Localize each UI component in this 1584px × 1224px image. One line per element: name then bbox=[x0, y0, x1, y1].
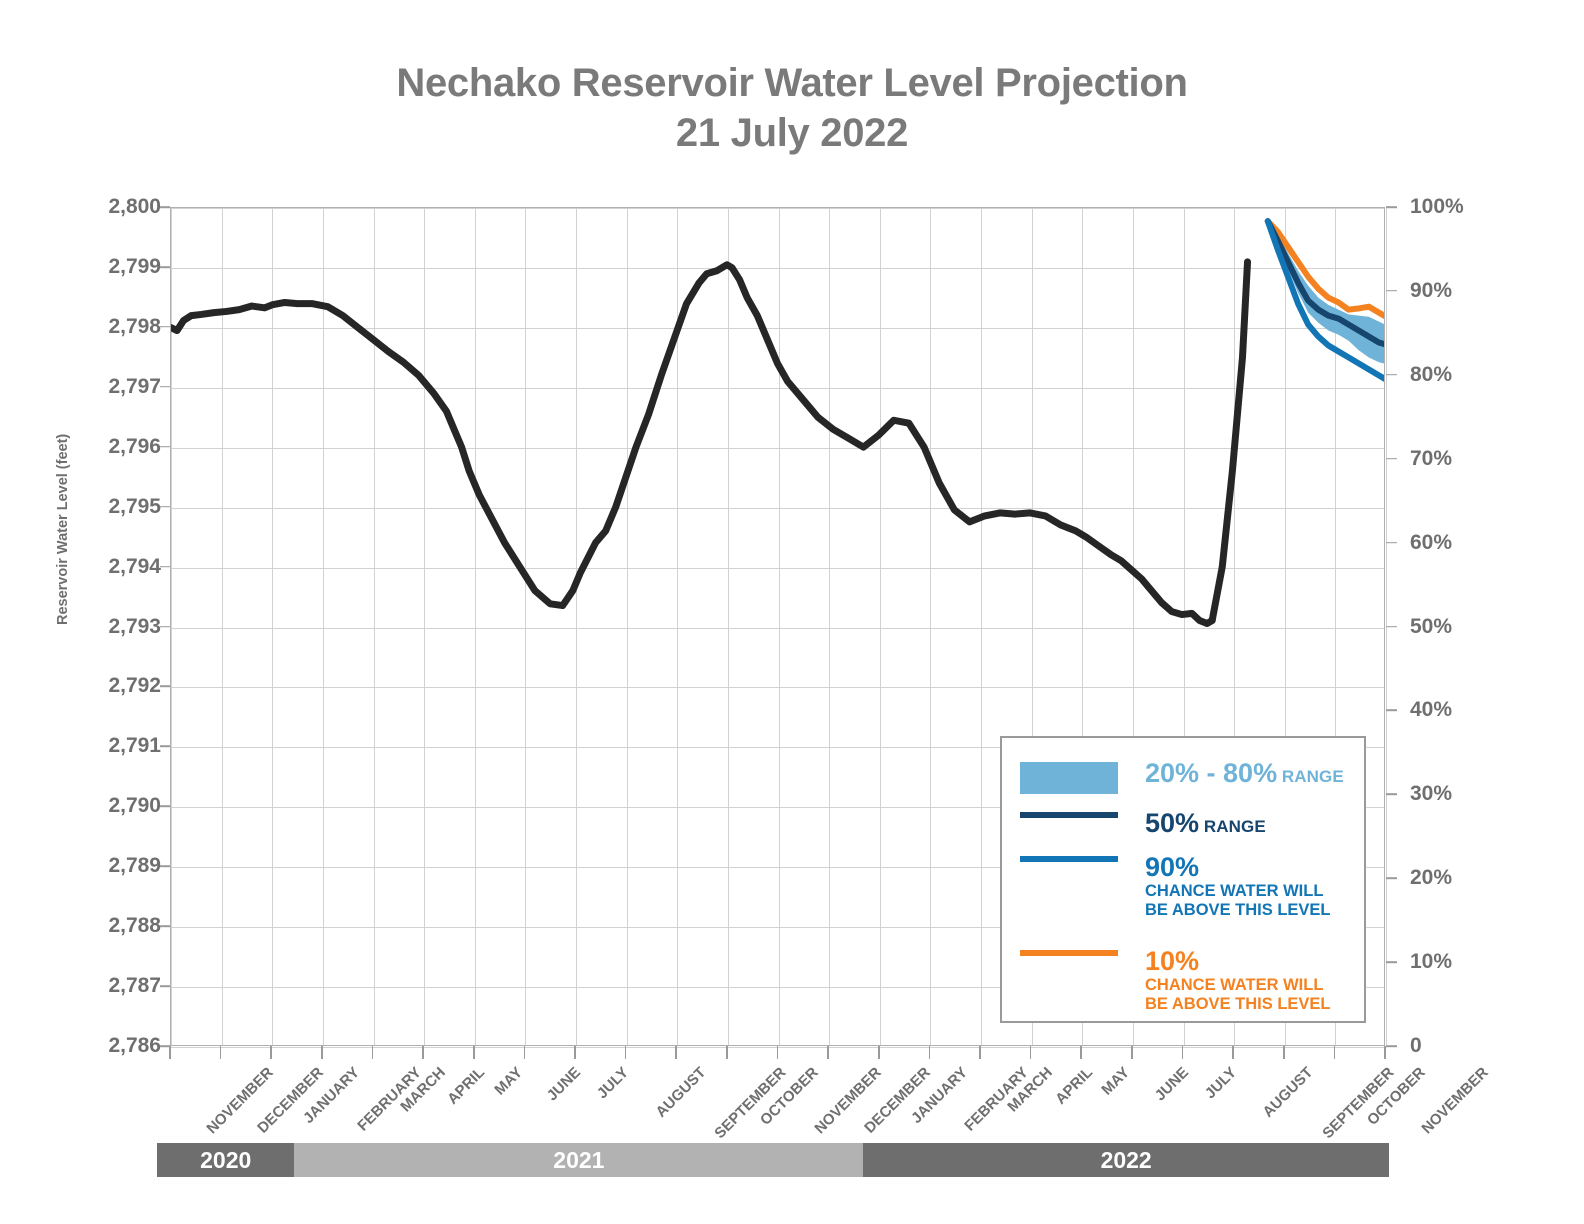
x-axis-tick bbox=[574, 1046, 576, 1059]
x-axis-tick bbox=[1182, 1046, 1184, 1059]
x-axis-tick bbox=[675, 1046, 677, 1059]
legend-label-primary: 50% bbox=[1145, 808, 1199, 838]
x-axis-tick bbox=[1232, 1046, 1234, 1059]
x-axis-tick-label: AUGUST bbox=[652, 1064, 709, 1121]
y-axis-left-tick-label: 2,799 bbox=[41, 255, 161, 279]
x-axis-tick bbox=[1030, 1046, 1032, 1059]
legend-swatch-mark bbox=[1020, 950, 1118, 956]
x-axis-tick bbox=[726, 1046, 728, 1059]
x-axis-tick bbox=[169, 1046, 171, 1059]
x-axis-tick bbox=[929, 1046, 931, 1059]
x-axis-tick bbox=[777, 1046, 779, 1059]
x-axis-tick bbox=[220, 1046, 222, 1059]
y-axis-left-tick bbox=[160, 805, 170, 807]
legend-label-chance-10: 10%CHANCE WATER WILLBE ABOVE THIS LEVEL bbox=[1140, 946, 1331, 1014]
y-axis-left-tick-label: 2,789 bbox=[41, 854, 161, 878]
legend-label-secondary: RANGE bbox=[1199, 817, 1266, 836]
legend-swatch-mark bbox=[1020, 856, 1118, 862]
x-axis-tick-label: NOVEMBER bbox=[1418, 1064, 1491, 1137]
legend-swatch-range-50 bbox=[1020, 808, 1140, 818]
y-axis-left-tick-label: 2,787 bbox=[41, 974, 161, 998]
legend-label-description: BE ABOVE THIS LEVEL bbox=[1145, 995, 1331, 1014]
y-axis-right-tick bbox=[1386, 794, 1397, 796]
x-axis-tick bbox=[979, 1046, 981, 1059]
legend-item-range-50: 50% RANGE bbox=[1002, 808, 1364, 838]
y-axis-left-tick-label: 2,788 bbox=[41, 914, 161, 938]
y-axis-right-tick-label: 70% bbox=[1410, 447, 1530, 471]
legend-label-primary: 10% bbox=[1145, 946, 1199, 976]
x-axis-tick bbox=[1131, 1046, 1133, 1059]
legend-label-band-20-80: 20% - 80% RANGE bbox=[1140, 758, 1344, 788]
y-axis-right-tick bbox=[1386, 206, 1397, 208]
legend-label-head: 90% bbox=[1145, 852, 1331, 882]
x-axis-tick bbox=[422, 1046, 424, 1059]
x-axis-tick bbox=[473, 1046, 475, 1059]
y-axis-left-tick-label: 2,798 bbox=[41, 315, 161, 339]
x-axis-tick-label: JUNE bbox=[544, 1064, 584, 1104]
x-axis-tick-label: JUNE bbox=[1152, 1064, 1192, 1104]
y-axis-right-tick bbox=[1386, 877, 1397, 879]
x-axis-tick bbox=[1384, 1046, 1386, 1059]
y-axis-title: Reservoir Water Level (feet) bbox=[55, 434, 71, 625]
series-line bbox=[1212, 262, 1247, 621]
y-axis-left-tick-label: 2,790 bbox=[41, 794, 161, 818]
y-axis-right-tick bbox=[1386, 374, 1397, 376]
legend-label-primary: 20% - 80% bbox=[1145, 758, 1277, 788]
legend-swatch-mark bbox=[1020, 762, 1118, 794]
x-axis-tick bbox=[1080, 1046, 1082, 1059]
y-axis-right-tick-label: 30% bbox=[1410, 782, 1530, 806]
y-axis-right-tick bbox=[1386, 710, 1397, 712]
y-axis-left-tick bbox=[160, 925, 170, 927]
legend-label-description: CHANCE WATER WILL bbox=[1145, 882, 1331, 901]
title-line-2: 21 July 2022 bbox=[0, 108, 1584, 158]
page-title: Nechako Reservoir Water Level Projection… bbox=[0, 58, 1584, 158]
y-axis-left-tick bbox=[160, 686, 170, 688]
y-axis-right-tick-label: 80% bbox=[1410, 363, 1530, 387]
y-axis-left-tick bbox=[160, 506, 170, 508]
y-axis-right-tick bbox=[1386, 290, 1397, 292]
year-bar: 202020212022 bbox=[157, 1143, 1389, 1177]
legend-swatch-chance-10 bbox=[1020, 946, 1140, 956]
legend-item-band-20-80: 20% - 80% RANGE bbox=[1002, 758, 1364, 794]
y-axis-left-tick bbox=[160, 386, 170, 388]
legend-label-head: 50% RANGE bbox=[1145, 808, 1266, 838]
legend-label-primary: 90% bbox=[1145, 852, 1199, 882]
y-axis-left-tick-label: 2,791 bbox=[41, 734, 161, 758]
y-axis-left-tick bbox=[160, 746, 170, 748]
y-axis-left-tick bbox=[160, 566, 170, 568]
y-axis-left-tick-label: 2,796 bbox=[41, 435, 161, 459]
y-axis-left-tick bbox=[160, 206, 170, 208]
y-axis-left-tick-label: 2,800 bbox=[41, 195, 161, 219]
x-axis-tick bbox=[270, 1046, 272, 1059]
legend-label-head: 20% - 80% RANGE bbox=[1145, 758, 1344, 788]
x-axis-tick bbox=[524, 1046, 526, 1059]
year-band-2020: 2020 bbox=[157, 1143, 294, 1177]
legend-item-chance-90: 90%CHANCE WATER WILLBE ABOVE THIS LEVEL bbox=[1002, 852, 1364, 920]
x-axis-tick-label: MAY bbox=[1099, 1064, 1134, 1099]
x-axis-tick bbox=[321, 1046, 323, 1059]
x-axis-tick-label: APRIL bbox=[444, 1064, 488, 1108]
x-axis-tick bbox=[827, 1046, 829, 1059]
y-axis-left-tick bbox=[160, 626, 170, 628]
legend-item-chance-10: 10%CHANCE WATER WILLBE ABOVE THIS LEVEL bbox=[1002, 946, 1364, 1014]
y-axis-right-tick-label: 60% bbox=[1410, 531, 1530, 555]
legend-label-chance-90: 90%CHANCE WATER WILLBE ABOVE THIS LEVEL bbox=[1140, 852, 1331, 920]
legend-label-range-50: 50% RANGE bbox=[1140, 808, 1266, 838]
year-band-2021: 2021 bbox=[294, 1143, 863, 1177]
legend-swatch-mark bbox=[1020, 812, 1118, 818]
legend-swatch-chance-90 bbox=[1020, 852, 1140, 862]
y-axis-left-tick-label: 2,792 bbox=[41, 674, 161, 698]
y-axis-right-tick-label: 90% bbox=[1410, 279, 1530, 303]
x-axis-tick-label: MAY bbox=[491, 1064, 526, 1099]
y-axis-right-tick-label: 20% bbox=[1410, 866, 1530, 890]
y-axis-left-tick bbox=[160, 326, 170, 328]
y-axis-left-tick bbox=[160, 865, 170, 867]
legend-label-description: CHANCE WATER WILL bbox=[1145, 976, 1331, 995]
legend-label-head: 10% bbox=[1145, 946, 1331, 976]
x-axis-tick-label: AUGUST bbox=[1260, 1064, 1317, 1121]
legend-label-secondary: RANGE bbox=[1277, 767, 1344, 786]
legend-label-description: BE ABOVE THIS LEVEL bbox=[1145, 901, 1331, 920]
x-axis-tick bbox=[372, 1046, 374, 1059]
year-band-2022: 2022 bbox=[863, 1143, 1389, 1177]
y-axis-right-tick-label: 100% bbox=[1410, 195, 1530, 219]
y-axis-left-tick-label: 2,786 bbox=[41, 1034, 161, 1058]
y-axis-left-tick bbox=[160, 446, 170, 448]
y-axis-right-tick bbox=[1386, 961, 1397, 963]
x-axis-tick-label: JULY bbox=[594, 1064, 632, 1102]
y-axis-right-tick-label: 0 bbox=[1410, 1034, 1530, 1058]
y-axis-left-tick bbox=[160, 985, 170, 987]
x-axis-tick-label: APRIL bbox=[1052, 1064, 1096, 1108]
x-axis-tick-label: JULY bbox=[1201, 1064, 1239, 1102]
x-axis-tick bbox=[625, 1046, 627, 1059]
y-axis-right-tick bbox=[1386, 626, 1397, 628]
series-line bbox=[171, 265, 1212, 624]
y-axis-left-tick-label: 2,797 bbox=[41, 375, 161, 399]
x-axis-tick bbox=[878, 1046, 880, 1059]
y-axis-left-tick-label: 2,795 bbox=[41, 495, 161, 519]
y-axis-right-tick-label: 50% bbox=[1410, 615, 1530, 639]
y-axis-right-tick bbox=[1386, 458, 1397, 460]
y-axis-left-tick bbox=[160, 266, 170, 268]
y-axis-right-tick-label: 10% bbox=[1410, 950, 1530, 974]
y-axis-left-tick-label: 2,794 bbox=[41, 555, 161, 579]
y-axis-right-tick bbox=[1386, 1045, 1397, 1047]
x-axis-tick bbox=[1334, 1046, 1336, 1059]
title-line-1: Nechako Reservoir Water Level Projection bbox=[396, 61, 1187, 105]
y-axis-right-tick-label: 40% bbox=[1410, 698, 1530, 722]
y-axis-right-tick bbox=[1386, 542, 1397, 544]
legend-swatch-band-20-80 bbox=[1020, 758, 1140, 794]
chart-legend: 20% - 80% RANGE50% RANGE90%CHANCE WATER … bbox=[1000, 736, 1366, 1023]
y-axis-left-tick-label: 2,793 bbox=[41, 615, 161, 639]
x-axis-tick bbox=[1283, 1046, 1285, 1059]
